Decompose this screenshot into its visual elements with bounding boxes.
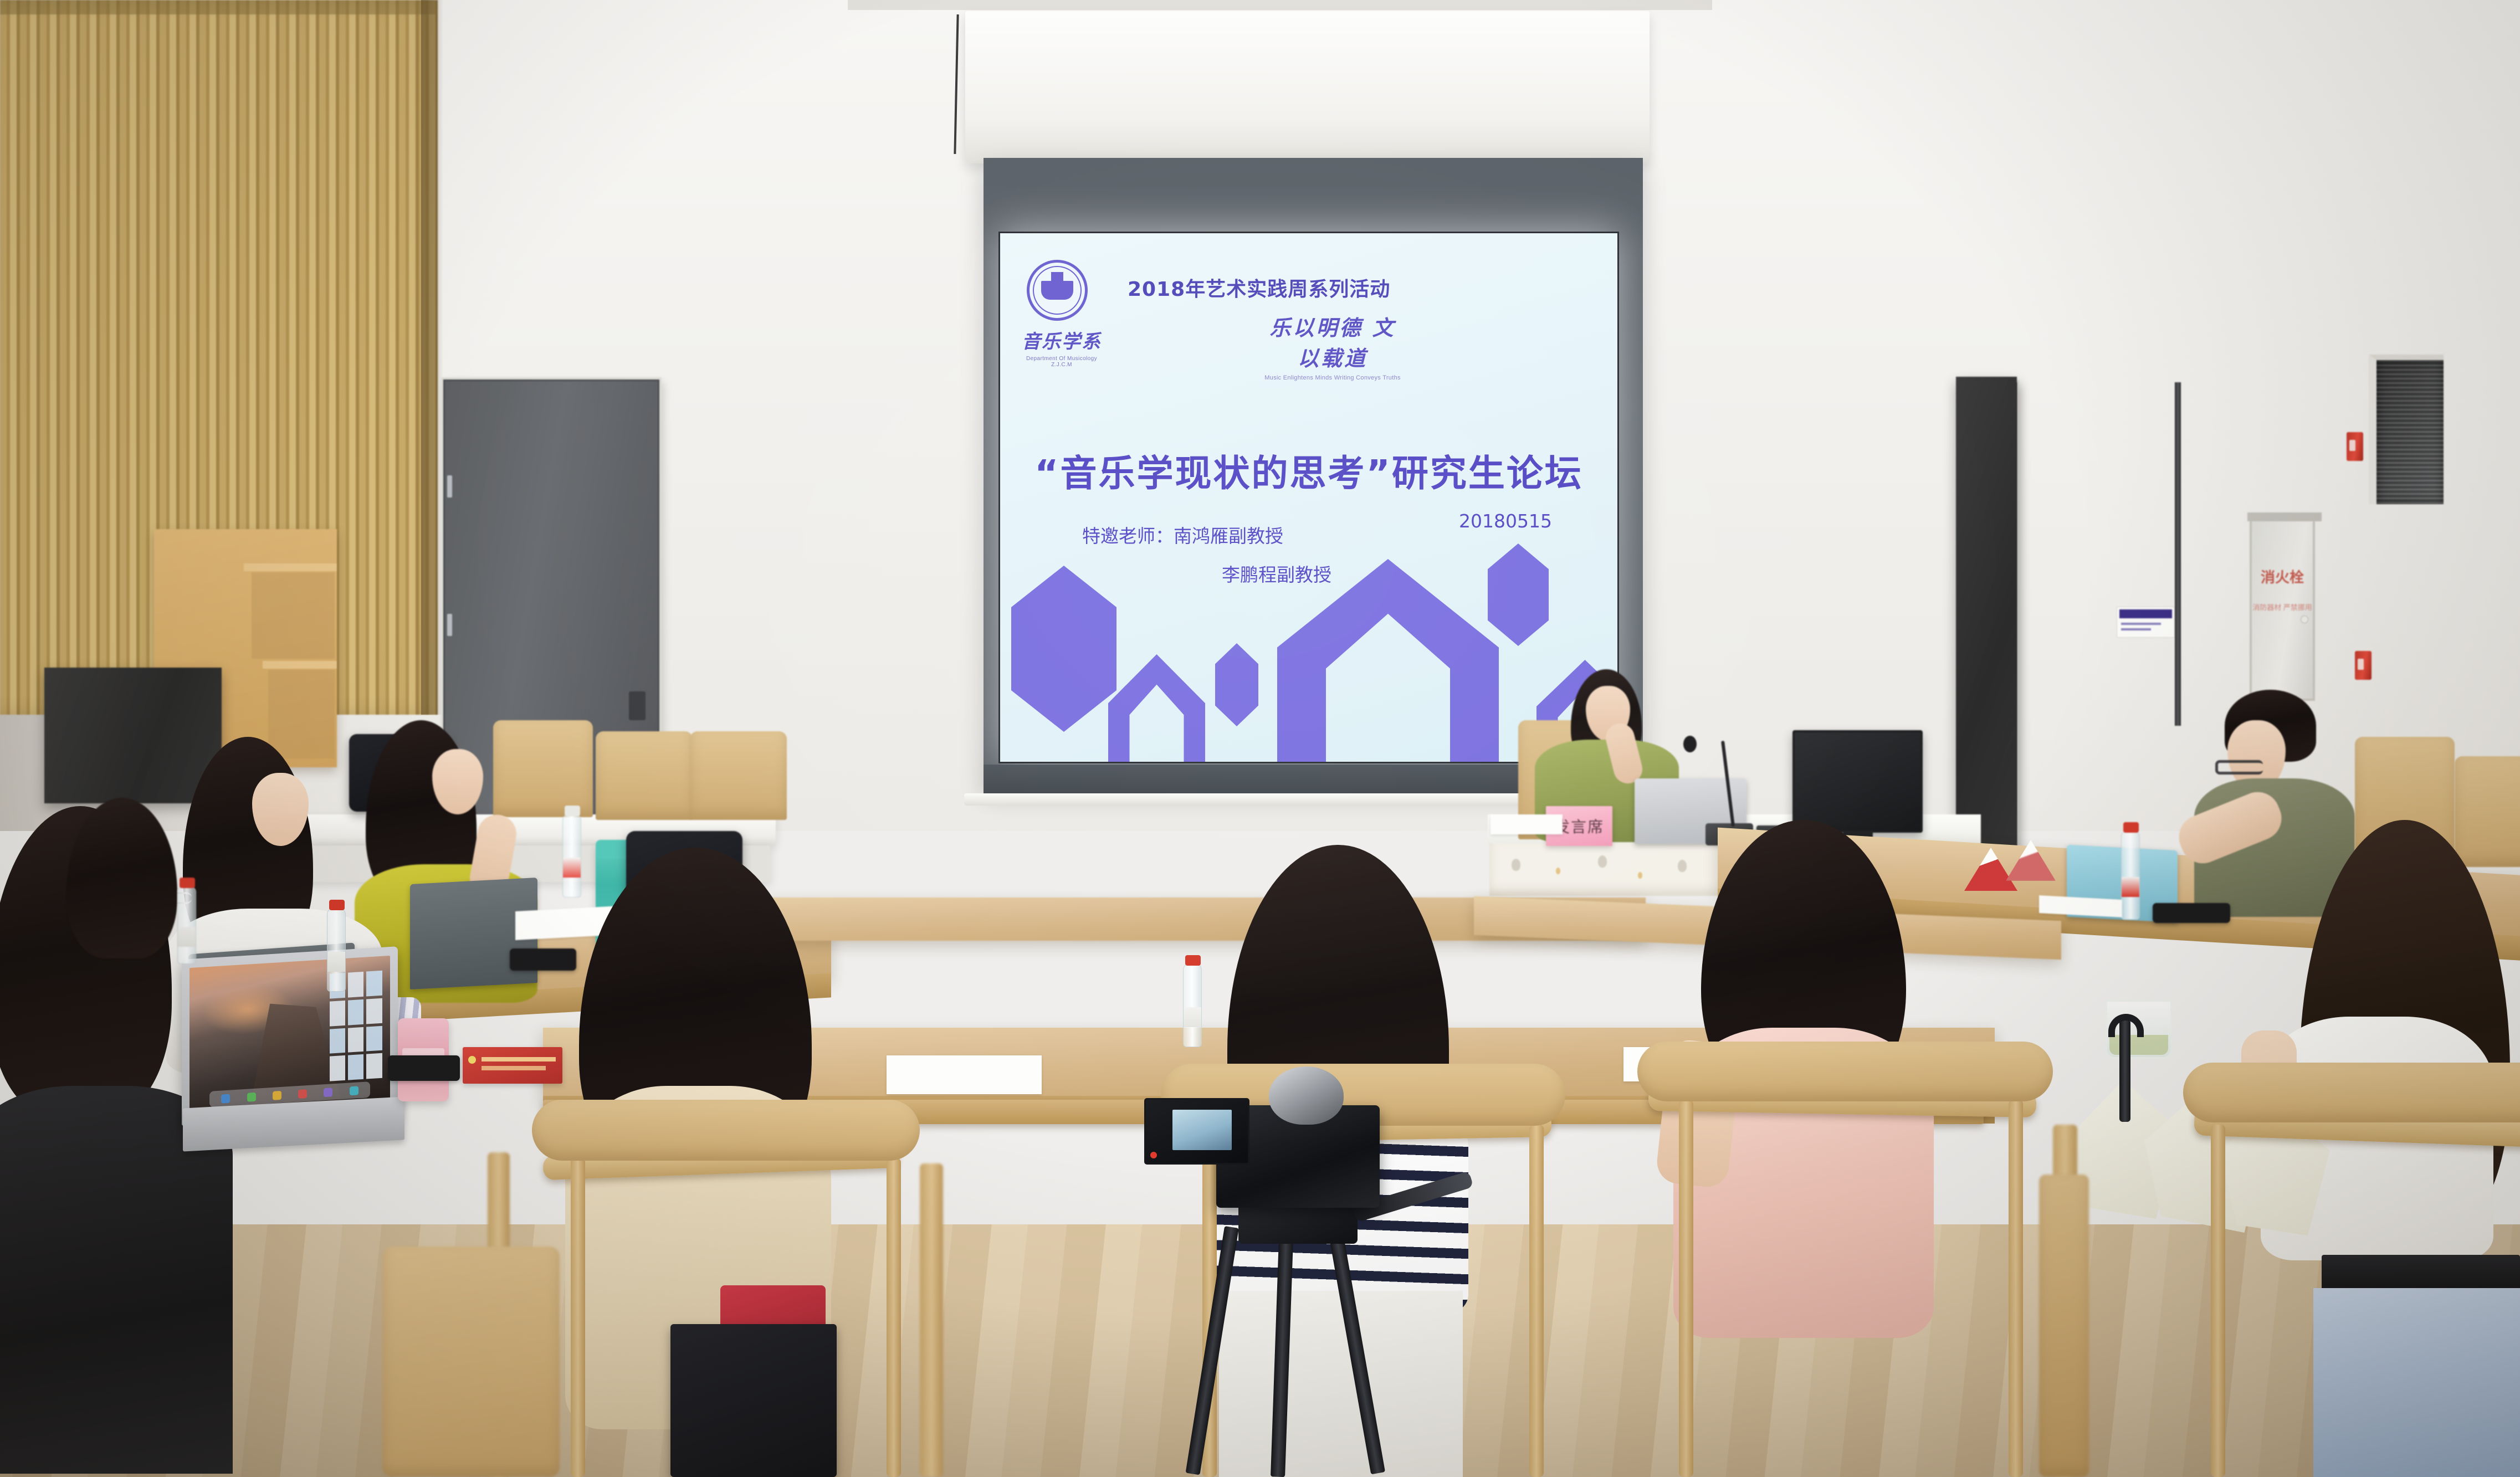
wall-speaker-right — [1956, 377, 2017, 859]
desktop-monitor — [1792, 730, 1923, 833]
water-bottle — [327, 909, 346, 992]
camera-lcd-screen[interactable] — [1144, 1098, 1249, 1165]
fire-cabinet-label: 消火栓 — [2252, 569, 2313, 587]
slide-date: 20180515 — [1459, 510, 1552, 532]
fire-alarm-icon — [2355, 651, 2372, 680]
ceiling-line — [848, 0, 1712, 10]
slide-host-line-2: 李鹏程副教授 — [1222, 560, 1331, 587]
water-bottle — [177, 886, 196, 964]
chair-back-far — [596, 731, 693, 820]
microphone-head-icon — [1683, 736, 1697, 752]
fire-alarm-icon — [2347, 432, 2363, 461]
paper-sheet — [887, 1055, 1042, 1094]
chair-leg — [1679, 1100, 1693, 1477]
slide-calligraphy: 乐以明德 文以载道 Music Enlightens Minds Writing… — [1261, 311, 1405, 381]
calligraphy-en: Music Enlightens Minds Writing Conveys T… — [1261, 375, 1405, 381]
black-tote-bag — [670, 1324, 837, 1477]
macbook-screen — [189, 956, 390, 1113]
cabinet-handle-icon — [2301, 616, 2308, 623]
chair-crest-rail — [1637, 1042, 2053, 1101]
chair-crest-rail — [532, 1100, 920, 1161]
chair-back-far — [493, 720, 593, 817]
chair-leg — [887, 1158, 901, 1477]
chair-panel-foreground — [382, 1247, 560, 1477]
chair-leg — [2009, 1100, 2023, 1477]
slide-house-icon — [1108, 654, 1205, 763]
wall-recess-vent — [2369, 355, 2444, 504]
camera-live-view — [1172, 1110, 1232, 1150]
wordmark-cn: 音乐学系 — [1020, 326, 1103, 353]
slide-hexagon-icon — [1215, 643, 1258, 726]
camera-lens-icon — [1269, 1066, 1344, 1125]
department-logo-icon — [1027, 260, 1088, 321]
vent-louvre-icon — [2376, 360, 2444, 504]
red-booklet — [463, 1047, 562, 1084]
floor-speaker-box — [44, 668, 222, 803]
wall-sign — [2117, 607, 2175, 638]
fire-hydrant-cabinet: 消火栓 消防器材 严禁挪用 — [2250, 518, 2315, 701]
water-bottle — [1183, 964, 1202, 1047]
chair-leg — [1529, 1125, 1544, 1477]
door-hinge-icon — [447, 475, 452, 498]
chair-leg-foreground — [920, 1163, 943, 1477]
chair-panel-foreground — [2039, 1175, 2089, 1477]
student-stripe-skirt — [1219, 1291, 1463, 1477]
chair-leg — [2211, 1125, 2225, 1477]
denim-jeans — [2313, 1288, 2520, 1477]
smartphone[interactable] — [510, 948, 576, 971]
sign-header-bar — [2119, 609, 2172, 618]
chair-leg — [571, 1158, 585, 1477]
slat-wall-edge — [421, 0, 443, 715]
department-wordmark: 音乐学系 Department Of Musicology Z.J.C.M — [1020, 326, 1103, 368]
slat-wall-top-shadow — [0, 0, 438, 14]
fire-cabinet-sublabel: 消防器材 严禁挪用 — [2252, 603, 2313, 613]
slide-title: “音乐学现状的思考”研究生论坛 — [1000, 444, 1617, 497]
water-bottle — [562, 814, 581, 898]
slide-host-line-1: 特邀老师：南鸿雁副教授 — [1082, 521, 1283, 548]
projected-slide: 音乐学系 Department Of Musicology Z.J.C.M 20… — [998, 232, 1619, 763]
chair-back-far — [690, 731, 787, 820]
calligraphy-cn: 乐以明德 文以载道 — [1261, 311, 1405, 372]
wordmark-en: Department Of Musicology Z.J.C.M — [1020, 356, 1103, 368]
eyeglasses-icon — [2215, 760, 2263, 775]
projector-screen-housing — [965, 11, 1650, 163]
paper-sheet — [1491, 814, 1563, 834]
slide-house-icon — [1277, 559, 1499, 763]
smartphone[interactable] — [388, 1055, 460, 1081]
seminar-room-photo: 消火栓 消防器材 严禁挪用 音乐学系 Department Of Musicol… — [0, 0, 2520, 1477]
wall-pole — [2175, 382, 2181, 726]
door-lock-icon — [629, 691, 646, 720]
chair-right-far — [2455, 756, 2520, 867]
slide-hexagon-icon — [1011, 566, 1116, 732]
slide-event-line: 2018年艺术实践周系列活动 — [1128, 273, 1390, 302]
water-bottle — [2121, 831, 2140, 920]
door-hinge-icon — [447, 614, 452, 636]
cabinet-lintel — [2247, 512, 2322, 521]
chair-crest-rail — [2183, 1063, 2520, 1122]
smartphone[interactable] — [2153, 903, 2230, 923]
slide-hexagon-icon — [1488, 543, 1549, 646]
record-indicator-icon — [1150, 1152, 1157, 1158]
